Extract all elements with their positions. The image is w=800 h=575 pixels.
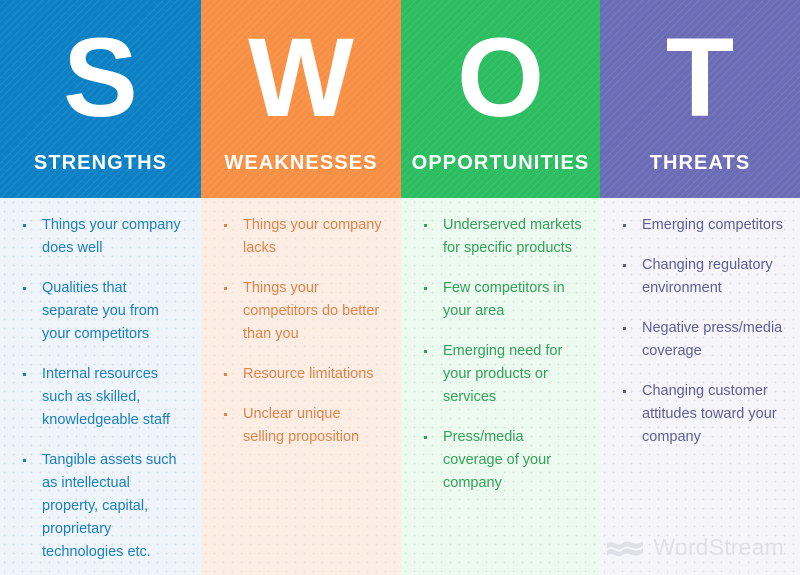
wordstream-logo: WordStream [606, 536, 784, 559]
list-item: Press/media coverage of your company [415, 426, 584, 495]
opportunities-letter: O [457, 22, 544, 134]
list-item: Negative press/media coverage [614, 317, 784, 363]
weaknesses-letter: W [248, 22, 354, 134]
wordstream-wordmark: WordStream [653, 536, 784, 559]
list-item: Few competitors in your area [415, 277, 584, 323]
list-item: Things your competitors do better than y… [215, 277, 385, 346]
opportunities-title: OPPORTUNITIES [412, 152, 590, 175]
list-item: Changing regulatory environment [614, 254, 784, 300]
list-item: Changing customer attitudes toward your … [614, 380, 784, 449]
list-item: Things your company does well [14, 214, 185, 260]
strengths-list: Things your company does well Qualities … [14, 214, 185, 564]
threats-letter: T [666, 22, 734, 134]
opportunities-header: O OPPORTUNITIES [401, 0, 600, 198]
weaknesses-list: Things your company lacks Things your co… [215, 214, 385, 449]
swot-column-opportunities: O OPPORTUNITIES Underserved markets for … [401, 0, 600, 575]
opportunities-list: Underserved markets for specific product… [415, 214, 584, 495]
threats-title: THREATS [650, 152, 751, 175]
list-item: Resource limitations [215, 363, 385, 386]
strengths-letter: S [63, 22, 138, 134]
list-item: Underserved markets for specific product… [415, 214, 584, 260]
swot-column-threats: T THREATS Emerging competitors Changing … [600, 0, 800, 575]
threats-list: Emerging competitors Changing regulatory… [614, 214, 784, 449]
list-item: Qualities that separate you from your co… [14, 277, 185, 346]
wave-icon [606, 538, 644, 558]
list-item: Things your company lacks [215, 214, 385, 260]
threats-header: T THREATS [600, 0, 800, 198]
weaknesses-title: WEAKNESSES [224, 152, 377, 175]
swot-column-strengths: S STRENGTHS Things your company does wel… [0, 0, 201, 575]
list-item: Emerging competitors [614, 214, 784, 237]
weaknesses-body: Things your company lacks Things your co… [201, 198, 401, 575]
swot-matrix: S STRENGTHS Things your company does wel… [0, 0, 800, 575]
list-item: Emerging need for your products or servi… [415, 340, 584, 409]
threats-body: Emerging competitors Changing regulatory… [600, 198, 800, 575]
list-item: Tangible assets such as intellectual pro… [14, 449, 185, 564]
list-item: Internal resources such as skilled, know… [14, 363, 185, 432]
opportunities-body: Underserved markets for specific product… [401, 198, 600, 575]
swot-column-weaknesses: W WEAKNESSES Things your company lacks T… [201, 0, 401, 575]
weaknesses-header: W WEAKNESSES [201, 0, 401, 198]
list-item: Unclear unique selling proposition [215, 403, 385, 449]
strengths-title: STRENGTHS [34, 152, 167, 175]
strengths-body: Things your company does well Qualities … [0, 198, 201, 575]
strengths-header: S STRENGTHS [0, 0, 201, 198]
